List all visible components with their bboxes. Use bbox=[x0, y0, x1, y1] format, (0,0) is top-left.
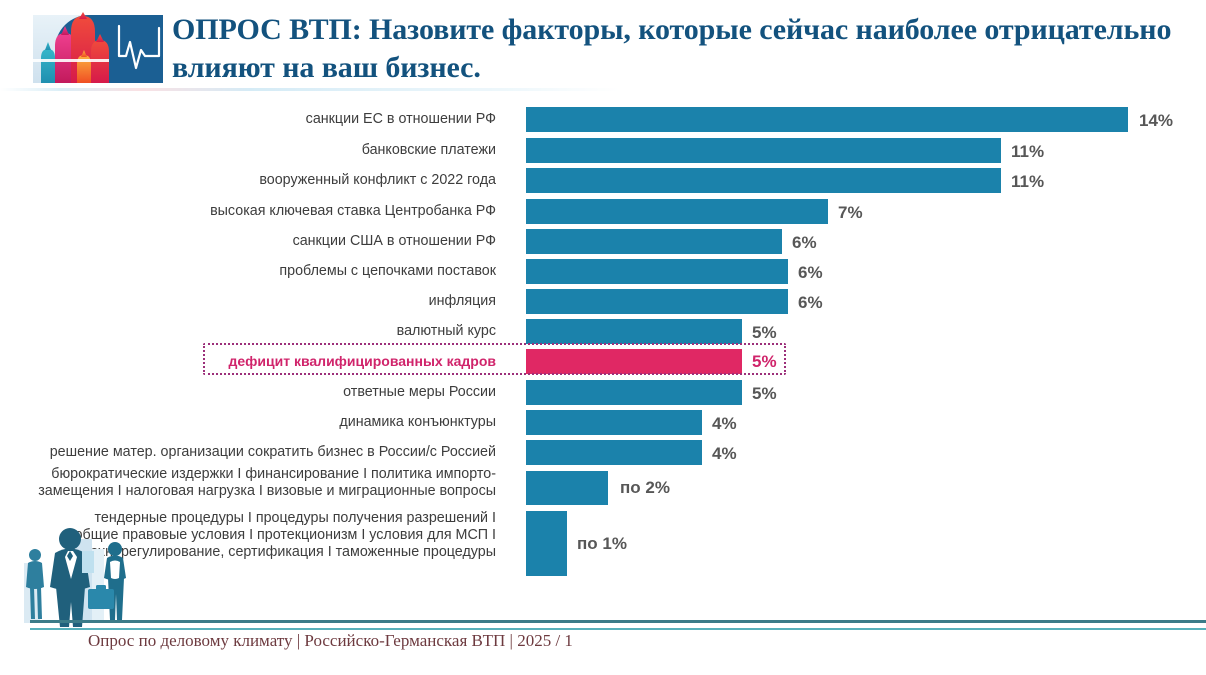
header-underline bbox=[0, 88, 1206, 91]
chart-value-label: 4% bbox=[712, 444, 737, 464]
chart-row-label: решение матер. организации сократить биз… bbox=[26, 444, 496, 461]
cathedral-logo-icon bbox=[33, 12, 163, 86]
chart-row-label: высокая ключевая ставка Центробанка РФ bbox=[26, 203, 496, 220]
chart-bar bbox=[526, 511, 567, 576]
chart-bar bbox=[526, 471, 608, 505]
chart-value-label: 11% bbox=[1011, 142, 1044, 162]
chart-value-label: по 1% bbox=[577, 534, 627, 554]
chart-row-label: валютный курс bbox=[26, 323, 496, 340]
business-people-silhouette bbox=[22, 505, 154, 630]
chart-row-label: вооруженный конфликт с 2022 года bbox=[26, 172, 496, 189]
chart-bar bbox=[526, 289, 788, 314]
chart-bar bbox=[526, 440, 702, 465]
chart-bar bbox=[526, 319, 742, 344]
chart-bar bbox=[526, 410, 702, 435]
chart-value-label: 6% bbox=[798, 263, 823, 283]
chart-value-label: 6% bbox=[792, 233, 817, 253]
chart-bar bbox=[526, 259, 788, 284]
chart-value-label: 5% bbox=[752, 323, 777, 343]
chart-row-label: санкции США в отношении РФ bbox=[26, 233, 496, 250]
chart-value-label: 11% bbox=[1011, 172, 1044, 192]
highlight-outline-box bbox=[203, 343, 786, 375]
chart-bar bbox=[526, 380, 742, 405]
chart-value-label: по 2% bbox=[620, 478, 670, 498]
chart-row-label: санкции ЕС в отношении РФ bbox=[26, 111, 496, 128]
chart-row-label: ответные меры России bbox=[26, 384, 496, 401]
chart-row-label: динамика конъюнктуры bbox=[26, 414, 496, 431]
chart-bar bbox=[526, 138, 1001, 163]
chart-bar bbox=[526, 229, 782, 254]
chart-value-label: 5% bbox=[752, 384, 777, 404]
page-title: ОПРОС ВТП: Назовите факторы, которые сей… bbox=[172, 11, 1172, 87]
chart-row-label: банковские платежи bbox=[26, 142, 496, 159]
chart-bar bbox=[526, 107, 1128, 132]
footer-rule-light bbox=[30, 628, 1206, 630]
chart-row-label: инфляция bbox=[26, 293, 496, 310]
chart-value-label: 7% bbox=[838, 203, 863, 223]
people-icon bbox=[22, 505, 154, 630]
chart-bar bbox=[526, 199, 828, 224]
chart-value-label: 4% bbox=[712, 414, 737, 434]
chart-row-label: проблемы с цепочками поставок bbox=[26, 263, 496, 280]
footer-rule-dark bbox=[30, 620, 1206, 623]
page-header: ОПРОС ВТП: Назовите факторы, которые сей… bbox=[0, 0, 1206, 96]
chart-row-label: бюрократические издержки I финансировани… bbox=[26, 466, 496, 500]
chart-value-label: 14% bbox=[1139, 111, 1173, 131]
vtp-logo bbox=[33, 12, 163, 86]
chart-bar bbox=[526, 168, 1001, 193]
chart-value-label: 6% bbox=[798, 293, 823, 313]
footer-caption: Опрос по деловому климату | Российско-Ге… bbox=[88, 631, 573, 651]
